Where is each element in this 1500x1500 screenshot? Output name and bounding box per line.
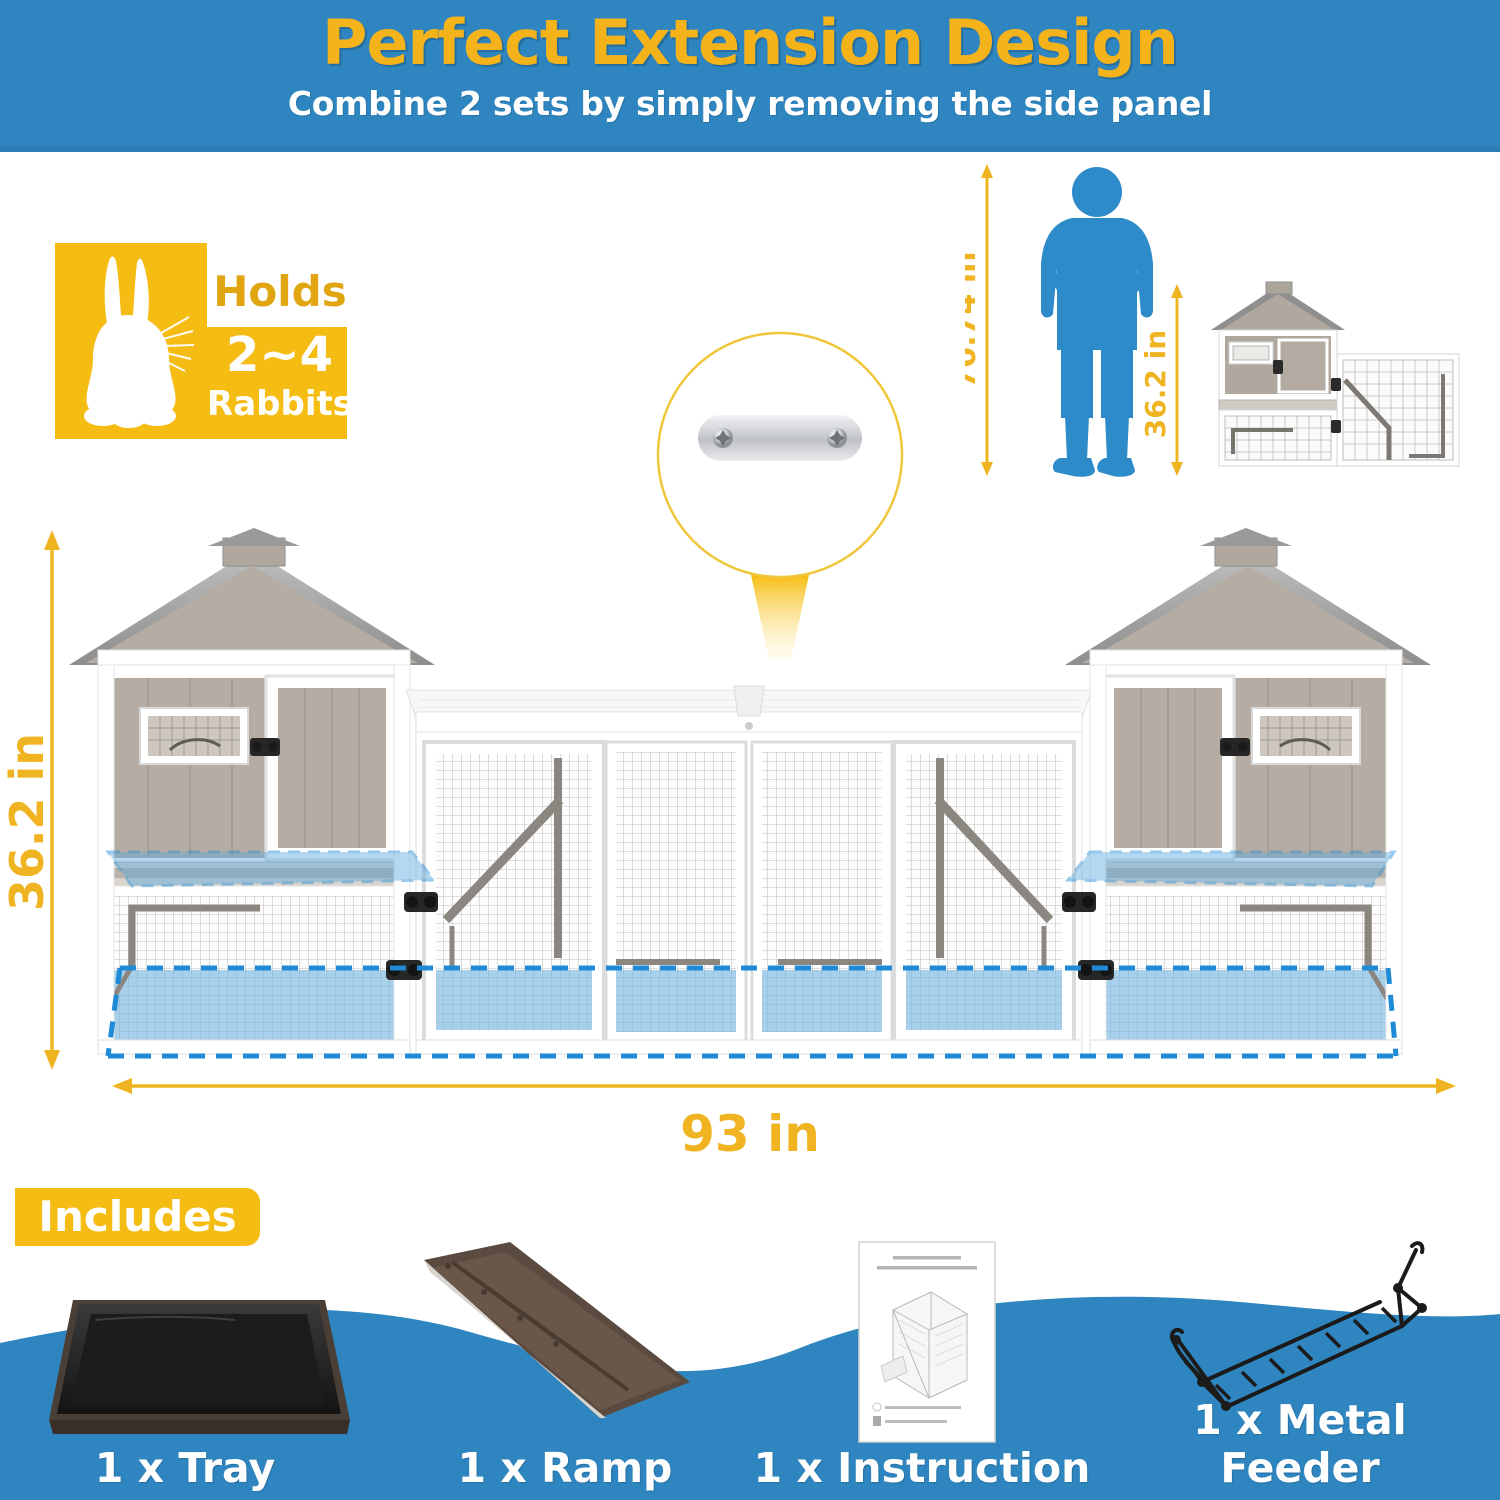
capacity-holds-label: Holds	[207, 261, 353, 323]
infographic-page: Perfect Extension Design Combine 2 sets …	[0, 0, 1500, 1500]
size-comparison: 70.74 in 36.2 in	[965, 160, 1500, 490]
header-banner: Perfect Extension Design Combine 2 sets …	[0, 0, 1500, 152]
includes-badge-label: Includes	[15, 1188, 260, 1246]
includes-section: Includes	[0, 1180, 1500, 1500]
instruction-manual-icon	[855, 1238, 1000, 1448]
rabbit-hutch-thumbnail-icon	[1211, 282, 1459, 466]
connector-plate-icon	[698, 415, 862, 461]
includes-item-label-metal-feeder: 1 x Metal Feeder	[1110, 1396, 1490, 1492]
includes-item-label-instruction: 1 x Instruction	[732, 1444, 1112, 1492]
product-width-label: 93 in	[0, 1105, 1500, 1163]
hutch-height-arrow	[1171, 284, 1183, 476]
capacity-count: 2~4	[207, 327, 352, 385]
hutch-height-label: 36.2 in	[1139, 330, 1172, 438]
product-height-label: 36.2 in	[0, 733, 54, 911]
left-hutch-unit	[69, 528, 435, 1054]
center-run-section	[406, 686, 1092, 1054]
right-hutch-unit	[1065, 528, 1431, 1054]
includes-item-label-ramp: 1 x Ramp	[375, 1444, 755, 1492]
person-silhouette-icon	[1041, 167, 1153, 477]
page-subtitle: Combine 2 sets by simply removing the si…	[0, 84, 1500, 123]
page-title: Perfect Extension Design	[0, 6, 1500, 79]
capacity-animal-label: Rabbits	[205, 381, 355, 429]
width-dimension-arrow	[112, 1078, 1456, 1094]
rabbit-silhouette-icon	[63, 253, 199, 431]
person-height-label: 70.74 in	[965, 252, 983, 389]
includes-badge: Includes	[15, 1188, 260, 1246]
product-illustration: 2.45 ft² 2.45 ft² 11.32 ft²	[20, 500, 1480, 1120]
capacity-badge: Holds 2~4 Rabbits	[55, 243, 347, 439]
ramp-icon	[400, 1242, 700, 1442]
tray-icon	[35, 1270, 355, 1450]
banner-bottom-edge	[0, 146, 1500, 152]
includes-item-label-tray: 1 x Tray	[0, 1444, 375, 1492]
